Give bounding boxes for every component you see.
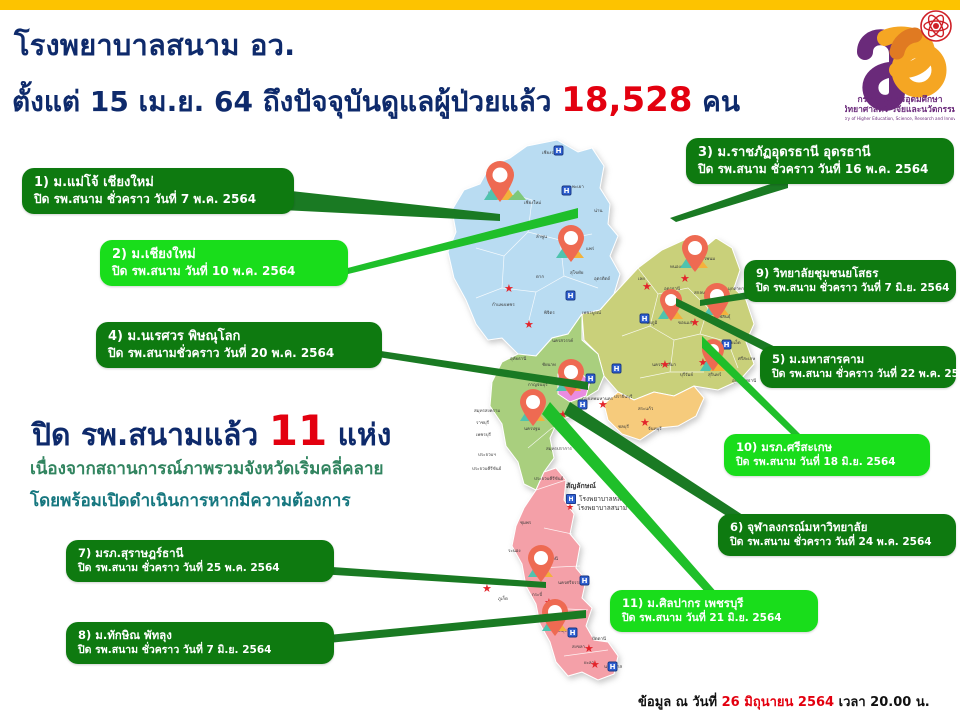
svg-text:H: H (614, 365, 620, 373)
svg-text:เพชรบุรี: เพชรบุรี (476, 432, 492, 438)
callout-10[interactable]: 10) มรภ.ศรีสะเกษ ปิด รพ.สนาม วันที่ 18 ม… (724, 434, 930, 476)
svg-text:ปัตตานี: ปัตตานี (592, 636, 606, 642)
callout-5-detail: ปิด รพ.สนาม ชั่วคราว วันที่ 22 พ.ค. 2564 (772, 367, 944, 381)
footer-pre: ข้อมูล ณ วันที่ (638, 695, 717, 710)
svg-text:ราชบุรี: ราชบุรี (476, 420, 490, 426)
svg-text:★: ★ (642, 280, 652, 293)
closed-count: 11 (269, 406, 327, 455)
page-subtitle: ตั้งแต่ 15 เม.ย. 64 ถึงปัจจุบันดูแลผู้ป่… (12, 80, 740, 124)
svg-text:ประจวบฯ: ประจวบฯ (478, 452, 496, 458)
callout-2[interactable]: 2) ม.เชียงใหม่ ปิด รพ.สนาม วันที่ 10 พ.ค… (100, 240, 348, 286)
callout-3-detail: ปิด รพ.สนาม ชั่วคราว วันที่ 16 พ.ค. 2564 (698, 161, 942, 177)
callout-7[interactable]: 7) มรภ.สุราษฎร์ธานี ปิด รพ.สนาม ชั่วคราว… (66, 540, 334, 582)
mhesi-logo: กระทรวงการอุดมศึกษา วิทยาศาสตร์ วิจัยและ… (845, 8, 955, 126)
svg-text:★: ★ (660, 358, 670, 371)
callout-1-title: 1) ม.แม่โจ้ เชียงใหม่ (34, 174, 282, 191)
callout-9-detail: ปิด รพ.สนาม ชั่วคราว วันที่ 7 มิ.ย. 2564 (756, 281, 944, 295)
logo-line1: กระทรวงการอุดมศึกษา (858, 94, 943, 105)
connector-8 (318, 600, 588, 650)
callout-4-title: 4) ม.นเรศวร พิษณุโลก (108, 328, 370, 345)
callout-2-title: 2) ม.เชียงใหม่ (112, 246, 336, 263)
svg-text:ชุมพร: ชุมพร (520, 520, 532, 526)
svg-text:เชียงใหม่: เชียงใหม่ (524, 200, 541, 206)
callout-5-title: 5) ม.มหาสารคาม (772, 352, 944, 367)
data-timestamp: ข้อมูล ณ วันที่ 26 มิถุนายน 2564 เวลา 20… (638, 691, 930, 712)
svg-text:H: H (610, 663, 616, 671)
footer-date: 26 มิถุนายน 2564 (722, 695, 834, 710)
patient-count: 18,528 (561, 80, 692, 120)
svg-text:น่าน: น่าน (594, 208, 602, 214)
callout-5[interactable]: 5) ม.มหาสารคาม ปิด รพ.สนาม ชั่วคราว วันท… (760, 346, 956, 388)
callout-8[interactable]: 8) ม.ทักษิณ พัทลุง ปิด รพ.สนาม ชั่วคราว … (66, 622, 334, 664)
callout-10-title: 10) มรภ.ศรีสะเกษ (736, 440, 918, 455)
callout-3-title: 3) ม.ราชภัฏอุดรธานี อุดรธานี (698, 144, 942, 161)
callout-3[interactable]: 3) ม.ราชภัฏอุดรธานี อุดรธานี ปิด รพ.สนาม… (686, 138, 954, 184)
infographic-canvas: โรงพยาบาลสนาม อว. ตั้งแต่ 15 เม.ย. 64 ถึ… (0, 0, 960, 720)
callout-4-detail: ปิด รพ.สนามชั่วคราว วันที่ 20 พ.ค. 2564 (108, 345, 370, 361)
callout-9[interactable]: 9) วิทยาลัยชุมชนยโสธร ปิด รพ.สนาม ชั่วคร… (744, 260, 956, 302)
svg-text:H: H (642, 315, 648, 323)
svg-text:ประจวบคีรีขันธ์: ประจวบคีรีขันธ์ (472, 466, 502, 472)
connector-3 (670, 178, 790, 224)
readiness-line: โดยพร้อมเปิดดำเนินการหากมีความต้องการ (30, 487, 351, 514)
callout-7-title: 7) มรภ.สุราษฎร์ธานี (78, 546, 322, 561)
svg-text:★: ★ (680, 272, 690, 285)
subtitle-text-post: คน (702, 85, 740, 118)
callout-6-detail: ปิด รพ.สนาม ชั่วคราว วันที่ 24 พ.ค. 2564 (730, 535, 944, 549)
reason-line: เนื่องจากสถานการณ์ภาพรวมจังหวัดเริ่มคลี่… (30, 455, 383, 482)
connector-11 (540, 398, 720, 608)
svg-text:อุตรดิตถ์: อุตรดิตถ์ (594, 276, 611, 282)
connector-7 (318, 560, 548, 600)
subtitle-text-pre: ตั้งแต่ 15 เม.ย. 64 ถึงปัจจุบันดูแลผู้ป่… (12, 85, 551, 118)
svg-text:นครปฐม: นครปฐม (524, 426, 541, 432)
callout-1[interactable]: 1) ม.แม่โจ้ เชียงใหม่ ปิด รพ.สนาม ชั่วคร… (22, 168, 294, 214)
callout-11-detail: ปิด รพ.สนาม วันที่ 21 มิ.ย. 2564 (622, 611, 806, 625)
svg-text:★: ★ (590, 658, 600, 671)
connector-2 (330, 208, 580, 278)
closed-statement-post: แห่ง (338, 418, 392, 453)
footer-post: เวลา 20.00 น. (839, 695, 930, 710)
callout-1-detail: ปิด รพ.สนาม ชั่วคราว วันที่ 7 พ.ค. 2564 (34, 191, 282, 207)
logo-line3: Ministry of Higher Education, Science, R… (845, 116, 955, 121)
callout-10-detail: ปิด รพ.สนาม วันที่ 18 มิ.ย. 2564 (736, 455, 918, 469)
callout-11-title: 11) ม.ศิลปากร เพชรบุรี (622, 596, 806, 611)
svg-text:H: H (564, 187, 570, 195)
callout-2-detail: ปิด รพ.สนาม วันที่ 10 พ.ค. 2564 (112, 263, 336, 279)
page-title: โรงพยาบาลสนาม อว. (14, 22, 295, 68)
callout-9-title: 9) วิทยาลัยชุมชนยโสธร (756, 266, 944, 281)
callout-6[interactable]: 6) จุฬาลงกรณ์มหาวิทยาลัย ปิด รพ.สนาม ชั่… (718, 514, 956, 556)
svg-text:พะเยา: พะเยา (572, 184, 584, 190)
callout-6-title: 6) จุฬาลงกรณ์มหาวิทยาลัย (730, 520, 944, 535)
svg-text:สมุทรสงคราม: สมุทรสงคราม (474, 408, 500, 414)
callout-4[interactable]: 4) ม.นเรศวร พิษณุโลก ปิด รพ.สนามชั่วคราว… (96, 322, 382, 368)
svg-text:ระนอง: ระนอง (508, 548, 521, 554)
callout-8-title: 8) ม.ทักษิณ พัทลุง (78, 628, 322, 643)
closed-count-statement: ปิด รพ.สนามแล้ว 11 แห่ง (32, 406, 391, 459)
svg-text:★: ★ (504, 282, 514, 295)
logo-monogram-icon (865, 34, 939, 102)
logo-line2: วิทยาศาสตร์ วิจัยและนวัตกรรม (845, 104, 955, 115)
callout-11[interactable]: 11) ม.ศิลปากร เพชรบุรี ปิด รพ.สนาม วันที… (610, 590, 818, 632)
svg-text:H: H (556, 147, 562, 155)
svg-text:แพร่: แพร่ (586, 246, 595, 252)
callout-7-detail: ปิด รพ.สนาม ชั่วคราว วันที่ 25 พ.ค. 2564 (78, 561, 322, 575)
top-accent-bar (0, 0, 960, 10)
callout-8-detail: ปิด รพ.สนาม ชั่วคราว วันที่ 7 มิ.ย. 2564 (78, 643, 322, 657)
atom-icon (921, 11, 951, 41)
closed-statement-pre: ปิด รพ.สนามแล้ว (32, 418, 258, 453)
